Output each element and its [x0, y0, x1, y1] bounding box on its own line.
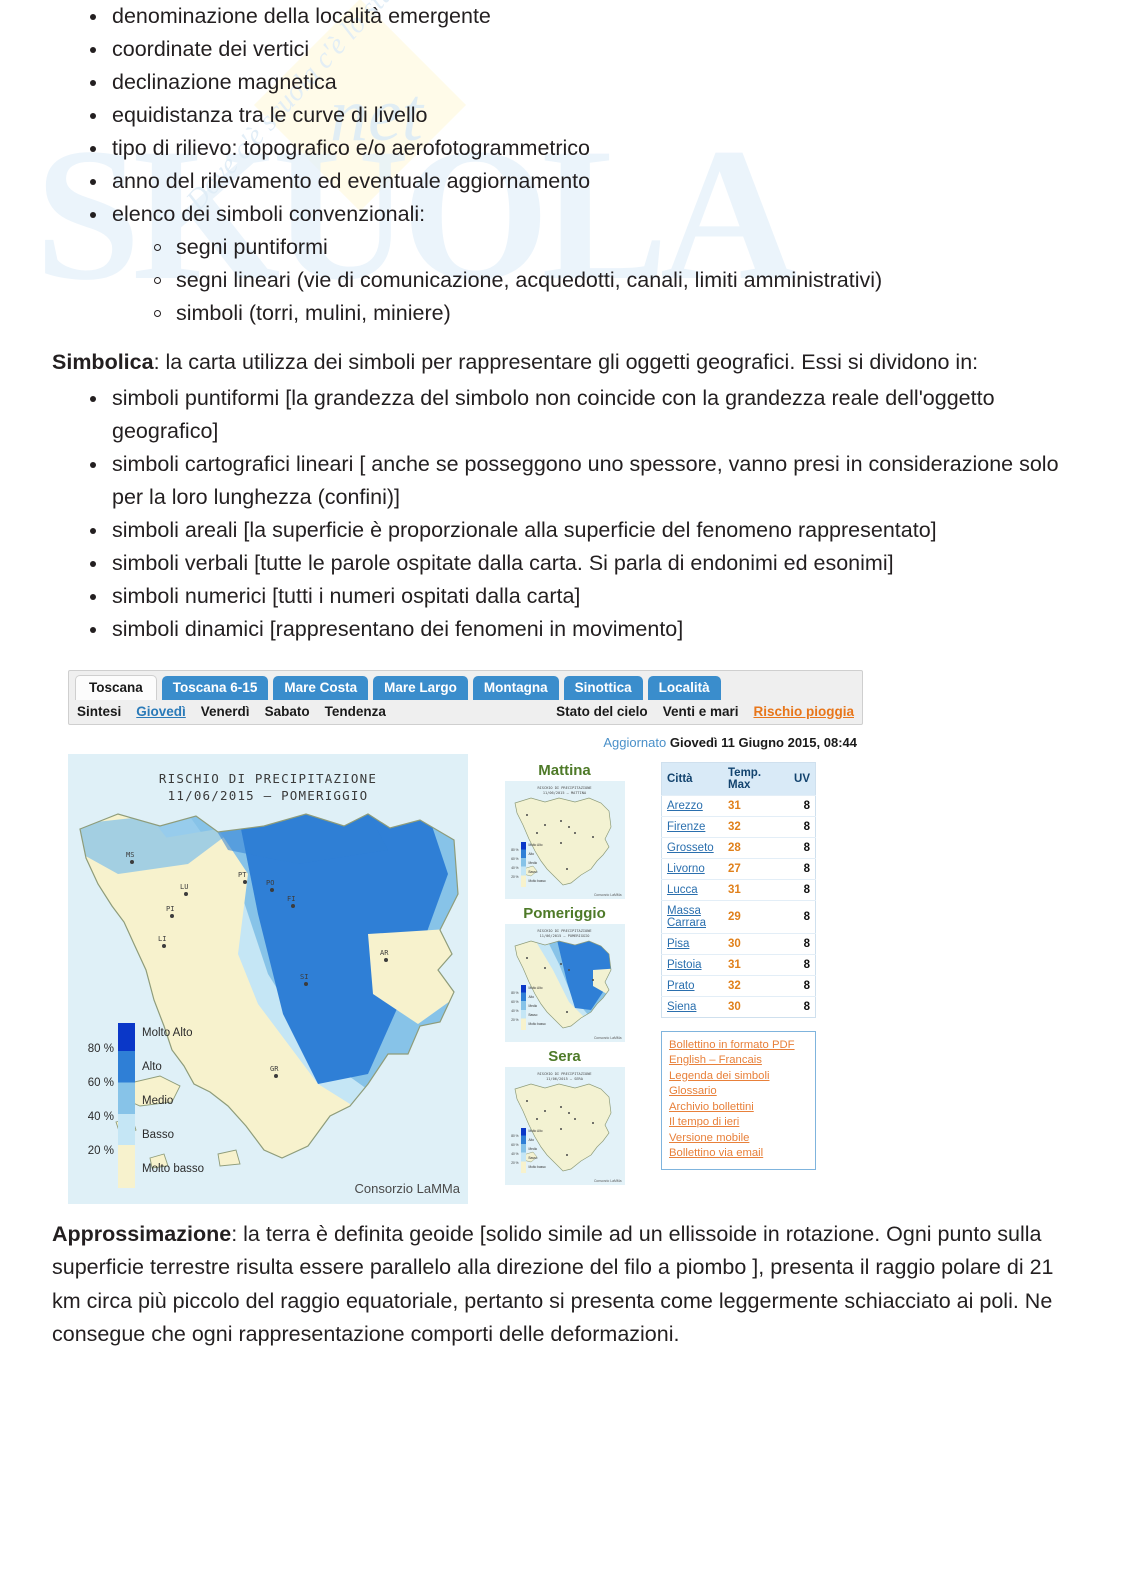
list-item: coordinate dei vertici — [90, 33, 1069, 66]
link-bollettino-via-email[interactable]: Bollettino via email — [669, 1146, 808, 1162]
sublist-item-label: segni puntiformi — [176, 235, 328, 259]
svg-text:LU: LU — [180, 883, 188, 891]
approssimazione-term: Approssimazione — [52, 1222, 231, 1246]
cell-uv: 8 — [779, 996, 816, 1017]
legend-pct-20: 20 % — [80, 1145, 114, 1157]
updated-value: Giovedì 11 Giugno 2015, 08:44 — [670, 735, 857, 750]
city-temperature-table: Città Temp. Max UV Arezzo 31 8 — [661, 762, 816, 1018]
table-row: Lucca 31 8 — [662, 879, 816, 900]
thumb-sera[interactable]: Sera RISCHIO DI PRECIPITAZIONE 11/06/201… — [476, 1048, 653, 1185]
header-temp: Temp. Max — [723, 762, 779, 795]
city-link-arezzo[interactable]: Arezzo — [667, 800, 703, 812]
sublist-item-label: segni lineari (vie di comunicazione, acq… — [176, 268, 882, 292]
cell-uv: 8 — [779, 975, 816, 996]
thumb-colorbar — [521, 985, 526, 1030]
link-tempo-di-ieri[interactable]: Il tempo di ieri — [669, 1115, 808, 1131]
thumb-credit-sera: Consorzio LaMMa — [594, 1179, 622, 1183]
subnav-rischio-pioggia[interactable]: Rischio pioggia — [753, 704, 854, 719]
legend-class-basso: Basso — [142, 1129, 174, 1141]
list-item: simboli dinamici [rappresentano dei feno… — [90, 613, 1069, 646]
thumb-legend-mattina: 80 % 60 % 40 % 20 % Molto Alto Alto Medi… — [509, 841, 554, 889]
thumb-class-medio: Medio — [529, 1147, 538, 1151]
simbolica-term: Simbolica — [52, 350, 154, 374]
list-item: simboli cartografici lineari [ anche se … — [90, 448, 1069, 514]
list-item: simboli verbali [tutte le parole ospitat… — [90, 547, 1069, 580]
simbolica-lead: Simbolica: la carta utilizza dei simboli… — [52, 346, 1069, 380]
city-link-firenze[interactable]: Firenze — [667, 821, 705, 833]
link-legenda-simboli[interactable]: Legenda dei simboli — [669, 1069, 808, 1085]
thumb-map-mattina[interactable]: RISCHIO DI PRECIPITAZIONE 11/06/2015 — M… — [505, 781, 625, 899]
cell-city[interactable]: Siena — [662, 996, 724, 1017]
subnav-venti-e-mari[interactable]: Venti e mari — [663, 704, 739, 719]
conventional-symbols-sublist: segni puntiformi segni lineari (vie di c… — [112, 231, 1069, 330]
subnav-days: Sintesi Giovedì Venerdì Sabato Tendenza — [77, 704, 386, 719]
table-header-row: Città Temp. Max UV — [662, 762, 816, 795]
cell-temp: 31 — [723, 795, 779, 816]
subnav-sintesi[interactable]: Sintesi — [77, 704, 121, 719]
thumb-class-molto-basso: Molto basso — [529, 1165, 546, 1169]
thumb-colorbar — [521, 842, 526, 887]
last-updated: Aggiornato Giovedì 11 Giugno 2015, 08:44 — [68, 725, 863, 754]
header-citta: Città — [662, 762, 724, 795]
thumb-pct-60: 60 % — [509, 1143, 519, 1147]
link-archivio-bollettini[interactable]: Archivio bollettini — [669, 1100, 808, 1116]
thumb-pct-20: 20 % — [509, 1018, 519, 1022]
thumb-label-pomeriggio: Pomeriggio — [476, 905, 653, 922]
thumb-label-sera: Sera — [476, 1048, 653, 1065]
table-body: Arezzo 31 8 Firenze 32 8 Grosseto 28 — [662, 795, 816, 1017]
tab-mare-costa[interactable]: Mare Costa — [273, 676, 368, 700]
subnav-venerdi[interactable]: Venerdì — [201, 704, 250, 719]
cell-city[interactable]: Firenze — [662, 816, 724, 837]
thumb-class-molto-basso: Molto basso — [529, 879, 546, 883]
map-title: RISCHIO DI PRECIPITAZIONE 11/06/2015 — P… — [68, 770, 468, 804]
svg-text:PO: PO — [266, 879, 274, 887]
widget-navigation-bar: Toscana Toscana 6-15 Mare Costa Mare Lar… — [68, 670, 863, 725]
svg-text:AR: AR — [380, 949, 389, 957]
subnav-tendenza[interactable]: Tendenza — [325, 704, 386, 719]
thumb-pct-60: 60 % — [509, 1000, 519, 1004]
list-item: simboli numerici [tutti i numeri ospitat… — [90, 580, 1069, 613]
thumb-class-basso: Basso — [529, 1013, 538, 1017]
list-item: simboli puntiformi [la grandezza del sim… — [90, 382, 1069, 448]
cell-city[interactable]: Pistoia — [662, 954, 724, 975]
thumb-class-medio: Medio — [529, 1004, 538, 1008]
list-item-label: denominazione della località emergente — [112, 4, 491, 28]
thumb-class-alto: Alto — [529, 995, 535, 999]
list-item-label: elenco dei simboli convenzionali: — [112, 202, 425, 226]
list-item-label: simboli numerici [tutti i numeri ospitat… — [112, 584, 580, 608]
thumb-class-molto-basso: Molto basso — [529, 1022, 546, 1026]
secondary-navigation: Sintesi Giovedì Venerdì Sabato Tendenza … — [75, 700, 856, 724]
cell-temp: 27 — [723, 858, 779, 879]
thumb-class-basso: Basso — [529, 1156, 538, 1160]
table-row: Prato 32 8 — [662, 975, 816, 996]
legend-colorbar — [118, 1023, 135, 1188]
thumb-title-sera: RISCHIO DI PRECIPITAZIONE 11/06/2015 — S… — [505, 1072, 625, 1082]
svg-text:PT: PT — [238, 871, 247, 879]
legend-class-molto-basso: Molto basso — [142, 1163, 204, 1175]
sidebar-column: Città Temp. Max UV Arezzo 31 8 — [653, 754, 818, 1170]
updated-label: Aggiornato — [603, 735, 666, 750]
list-item-label: anno del rilevamento ed eventuale aggior… — [112, 169, 590, 193]
cell-temp: 31 — [723, 954, 779, 975]
tab-localita[interactable]: Località — [648, 676, 721, 700]
tab-mare-largo[interactable]: Mare Largo — [373, 676, 468, 700]
cell-city[interactable]: Pisa — [662, 933, 724, 954]
tab-toscana-6-15[interactable]: Toscana 6-15 — [162, 676, 269, 700]
subnav-giovedi[interactable]: Giovedì — [136, 704, 186, 719]
cell-city[interactable]: Lucca — [662, 879, 724, 900]
list-item: denominazione della località emergente — [90, 0, 1069, 33]
cell-uv: 8 — [779, 900, 816, 933]
thumb-title-mattina: RISCHIO DI PRECIPITAZIONE 11/06/2015 — M… — [505, 786, 625, 796]
map-credit: Consorzio LaMMa — [355, 1181, 461, 1196]
cell-uv: 8 — [779, 879, 816, 900]
svg-text:GR: GR — [270, 1065, 279, 1073]
thumb-pct-80: 80 % — [509, 1134, 519, 1138]
thumb-pct-40: 40 % — [509, 1009, 519, 1013]
thumb-credit-pomeriggio: Consorzio LaMMa — [594, 1036, 622, 1040]
thumb-map-sera[interactable]: RISCHIO DI PRECIPITAZIONE 11/06/2015 — S… — [505, 1067, 625, 1185]
cell-city[interactable]: Prato — [662, 975, 724, 996]
header-temp-line1: Temp. — [728, 767, 774, 779]
list-item: elenco dei simboli convenzionali: segni … — [90, 198, 1069, 330]
simbolica-list: simboli puntiformi [la grandezza del sim… — [52, 382, 1069, 646]
thumb-class-basso: Basso — [529, 870, 538, 874]
table-header: Città Temp. Max UV — [662, 762, 816, 795]
header-uv: UV — [779, 762, 816, 795]
thumb-pct-60: 60 % — [509, 857, 519, 861]
list-item-label: simboli areali [la superficie è proporzi… — [112, 518, 937, 542]
sublist-item: simboli (torri, mulini, miniere) — [154, 297, 1069, 330]
approssimazione-paragraph: Approssimazione: la terra è definita geo… — [52, 1218, 1069, 1352]
subnav-views: Stato del cielo Venti e mari Rischio pio… — [556, 704, 854, 719]
cell-uv: 8 — [779, 954, 816, 975]
list-item-label: declinazione magnetica — [112, 70, 337, 94]
legend-class-medio: Medio — [142, 1095, 173, 1107]
table-row: Pisa 30 8 — [662, 933, 816, 954]
svg-text:LI: LI — [158, 935, 166, 943]
legend-class-molto-alto: Molto Alto — [142, 1027, 193, 1039]
city-link-prato[interactable]: Prato — [667, 980, 695, 992]
thumb-label-mattina: Mattina — [476, 762, 653, 779]
tab-sinottica[interactable]: Sinottica — [564, 676, 643, 700]
simbolica-section: Simbolica: la carta utilizza dei simboli… — [52, 346, 1069, 646]
thumb-legend-pomeriggio: 80 % 60 % 40 % 20 % Molto Alto Alto Medi… — [509, 984, 554, 1032]
thumb-pct-80: 80 % — [509, 991, 519, 995]
subnav-sabato[interactable]: Sabato — [265, 704, 310, 719]
thumb-class-alto: Alto — [529, 1138, 535, 1142]
city-link-pisa[interactable]: Pisa — [667, 938, 689, 950]
thumb-pct-80: 80 % — [509, 848, 519, 852]
thumb-credit-mattina: Consorzio LaMMa — [594, 893, 622, 897]
cell-temp: 32 — [723, 816, 779, 837]
list-item-label: equidistanza tra le curve di livello — [112, 103, 428, 127]
thumb-map-pomeriggio[interactable]: RISCHIO DI PRECIPITAZIONE 11/06/2015 — P… — [505, 924, 625, 1042]
thumb-colorbar — [521, 1128, 526, 1173]
primary-tabs: Toscana Toscana 6-15 Mare Costa Mare Lar… — [75, 675, 856, 700]
cell-temp: 29 — [723, 900, 779, 933]
table-row: Pistoia 31 8 — [662, 954, 816, 975]
thumb-class-medio: Medio — [529, 861, 538, 865]
legend-pct-80: 80 % — [80, 1043, 114, 1055]
city-link-grosseto[interactable]: Grosseto — [667, 842, 714, 854]
table-row: Massa Carrara 29 8 — [662, 900, 816, 933]
cell-temp: 32 — [723, 975, 779, 996]
header-temp-line2: Max — [728, 779, 774, 791]
thumb-pct-40: 40 % — [509, 866, 519, 870]
thumb-mattina[interactable]: Mattina RISCHIO DI PRECIPITAZIONE 11/06/… — [476, 762, 653, 899]
document-page: denominazione della località emergente c… — [0, 0, 1121, 1352]
sublist-item-label: simboli (torri, mulini, miniere) — [176, 301, 451, 325]
thumb-pomeriggio[interactable]: Pomeriggio — [476, 905, 653, 1042]
svg-text:PI: PI — [166, 905, 174, 913]
cell-city[interactable]: Livorno — [662, 858, 724, 879]
list-item-label: coordinate dei vertici — [112, 37, 309, 61]
list-item-label: simboli dinamici [rappresentano dei feno… — [112, 617, 683, 641]
cell-temp: 30 — [723, 933, 779, 954]
list-item: declinazione magnetica — [90, 66, 1069, 99]
cell-uv: 8 — [779, 837, 816, 858]
list-item-label: simboli verbali [tutte le parole ospitat… — [112, 551, 894, 575]
legend-pct-40: 40 % — [80, 1111, 114, 1123]
thumb-class-molto-alto: Molto Alto — [529, 1129, 543, 1133]
svg-text:FI: FI — [287, 895, 295, 903]
table-row: Grosseto 28 8 — [662, 837, 816, 858]
thumb-legend-sera: 80 % 60 % 40 % 20 % Molto Alto Alto Medi… — [509, 1127, 554, 1175]
thumb-pct-20: 20 % — [509, 875, 519, 879]
thumb-pct-20: 20 % — [509, 1161, 519, 1165]
list-item: simboli areali [la superficie è proporzi… — [90, 514, 1069, 547]
subnav-stato-del-cielo[interactable]: Stato del cielo — [556, 704, 648, 719]
sublist-item: segni lineari (vie di comunicazione, acq… — [154, 264, 1069, 297]
cell-temp: 31 — [723, 879, 779, 900]
city-link-livorno[interactable]: Livorno — [667, 863, 705, 875]
thumb-pct-40: 40 % — [509, 1152, 519, 1156]
cell-temp: 30 — [723, 996, 779, 1017]
city-link-massa-carrara[interactable]: Massa Carrara — [667, 905, 706, 929]
legend-class-alto: Alto — [142, 1061, 162, 1073]
table-row: Livorno 27 8 — [662, 858, 816, 879]
svg-text:SI: SI — [300, 973, 308, 981]
list-item-label: tipo di rilievo: topografico e/o aerofot… — [112, 136, 590, 160]
tab-toscana[interactable]: Toscana — [75, 675, 157, 700]
list-item-label: simboli cartografici lineari [ anche se … — [112, 452, 1059, 509]
thumb-class-alto: Alto — [529, 852, 535, 856]
list-item: equidistanza tra le curve di livello — [90, 99, 1069, 132]
city-link-pistoia[interactable]: Pistoia — [667, 959, 702, 971]
list-item-label: simboli puntiformi [la grandezza del sim… — [112, 386, 995, 443]
cell-city[interactable]: Grosseto — [662, 837, 724, 858]
legend-pct-60: 60 % — [80, 1077, 114, 1089]
tab-montagna[interactable]: Montagna — [473, 676, 559, 700]
link-glossario[interactable]: Glossario — [669, 1084, 808, 1100]
thumb-title-pomeriggio: RISCHIO DI PRECIPITAZIONE 11/06/2015 — P… — [505, 929, 625, 939]
cell-uv: 8 — [779, 933, 816, 954]
list-item: anno del rilevamento ed eventuale aggior… — [90, 165, 1069, 198]
link-versione-mobile[interactable]: Versione mobile — [669, 1131, 808, 1147]
svg-text:MS: MS — [126, 851, 134, 859]
sublist-item: segni puntiformi — [154, 231, 1069, 264]
cell-city[interactable]: Arezzo — [662, 795, 724, 816]
cell-temp: 28 — [723, 837, 779, 858]
cell-uv: 8 — [779, 816, 816, 837]
cell-uv: 8 — [779, 858, 816, 879]
table-row: Firenze 32 8 — [662, 816, 816, 837]
table-row: Siena 30 8 — [662, 996, 816, 1017]
link-bollettino-pdf[interactable]: Bollettino in formato PDF — [669, 1038, 808, 1054]
lamma-weather-widget: Toscana Toscana 6-15 Mare Costa Mare Lar… — [68, 670, 863, 1204]
cell-city[interactable]: Massa Carrara — [662, 900, 724, 933]
thumb-class-molto-alto: Molto Alto — [529, 843, 543, 847]
city-link-siena[interactable]: Siena — [667, 1001, 696, 1013]
table-row: Arezzo 31 8 — [662, 795, 816, 816]
daypart-thumbnails: Mattina RISCHIO DI PRECIPITAZIONE 11/06/… — [468, 754, 653, 1191]
resource-links-box: Bollettino in formato PDF English – Fran… — [661, 1031, 816, 1170]
cartographic-elements-list: denominazione della località emergente c… — [52, 0, 1069, 330]
link-english-francais[interactable]: English – Francais — [669, 1053, 808, 1069]
simbolica-definition: : la carta utilizza dei simboli per rapp… — [154, 350, 979, 374]
list-item: tipo di rilievo: topografico e/o aerofot… — [90, 132, 1069, 165]
city-link-lucca[interactable]: Lucca — [667, 884, 698, 896]
precipitation-risk-map[interactable]: MS LU PT PO FI PI LI AR SI GR RISCHIO DI… — [68, 754, 468, 1204]
thumb-class-molto-alto: Molto Alto — [529, 986, 543, 990]
risk-legend: 80 % 60 % 40 % 20 % Molto Alto Alto Medi… — [80, 1019, 230, 1194]
cell-uv: 8 — [779, 795, 816, 816]
widget-content: MS LU PT PO FI PI LI AR SI GR RISCHIO DI… — [68, 754, 863, 1204]
